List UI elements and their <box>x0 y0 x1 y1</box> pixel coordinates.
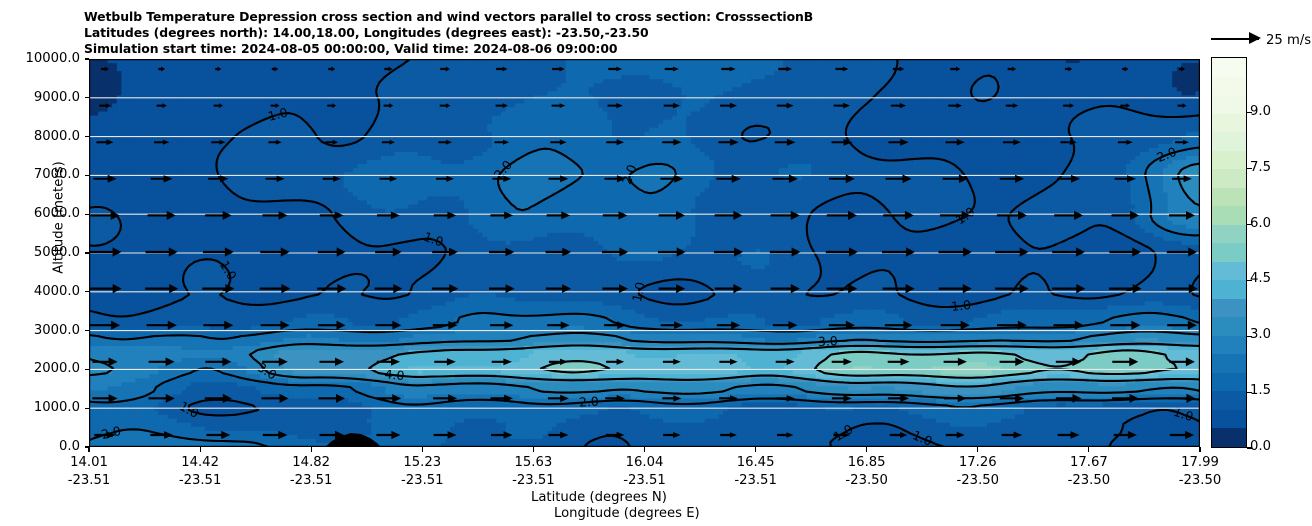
x-tick-label-longitude: -23.50 <box>1044 473 1134 488</box>
colorbar-tick-label: 3.0 <box>1250 327 1271 342</box>
colorbar-tick-label: 4.5 <box>1250 271 1271 286</box>
colorbar-band <box>1212 262 1246 281</box>
x-tick-mark <box>644 447 645 452</box>
colorbar-band <box>1212 132 1246 151</box>
x-tick-mark <box>1088 447 1089 452</box>
colorbar-band <box>1212 410 1246 429</box>
y-tick-label: 5000.0 <box>2 245 80 260</box>
colorbar-tick-mark <box>1247 224 1252 225</box>
colorbar-band <box>1212 428 1246 447</box>
x-tick-mark <box>422 447 423 452</box>
colorbar-band <box>1212 373 1246 392</box>
y-tick-label: 0.0 <box>2 439 80 454</box>
x-tick-label-latitude: 17.67 <box>1044 455 1134 470</box>
cross-section-plot: 1.01.01.01.01.01.01.01.01.01.02.02.02.02… <box>89 59 1200 447</box>
contour-label: 2.0 <box>578 393 599 409</box>
x-tick-label-longitude: -23.51 <box>488 473 578 488</box>
x-tick-label-latitude: 14.82 <box>266 455 356 470</box>
x-tick-label-latitude: 14.01 <box>44 455 134 470</box>
colorbar-tick-label: 9.0 <box>1250 104 1271 119</box>
colorbar-band <box>1212 58 1246 77</box>
chart-title-line3: Simulation start time: 2024-08-05 00:00:… <box>84 41 617 56</box>
x-tick-label-longitude: -23.51 <box>711 473 801 488</box>
y-tick-mark <box>85 97 90 98</box>
x-tick-label-longitude: -23.51 <box>600 473 690 488</box>
y-tick-mark <box>85 58 90 59</box>
y-tick-mark <box>85 330 90 331</box>
y-tick-mark <box>85 175 90 176</box>
colorbar-band <box>1212 391 1246 410</box>
y-tick-mark <box>85 369 90 370</box>
colorbar[interactable] <box>1211 57 1247 448</box>
colorbar-tick-mark <box>1247 447 1252 448</box>
x-tick-mark <box>977 447 978 452</box>
x-tick-label-longitude: -23.50 <box>933 473 1023 488</box>
colorbar-tick-mark <box>1247 168 1252 169</box>
x-tick-label-latitude: 16.04 <box>600 455 690 470</box>
colorbar-band <box>1212 169 1246 188</box>
colorbar-tick-mark <box>1247 280 1252 281</box>
colorbar-tick-mark <box>1247 112 1252 113</box>
colorbar-tick-label: 7.5 <box>1250 160 1271 175</box>
quiver-key-label: 25 m/s <box>1266 33 1311 48</box>
chart-title-line2: Latitudes (degrees north): 14.00,18.00, … <box>84 25 649 40</box>
plot-canvas: 1.01.01.01.01.01.01.01.01.01.02.02.02.02… <box>89 59 1200 447</box>
x-tick-label-latitude: 16.45 <box>711 455 801 470</box>
x-tick-label-latitude: 17.99 <box>1155 455 1245 470</box>
x-tick-label-latitude: 15.63 <box>488 455 578 470</box>
y-tick-label: 8000.0 <box>2 129 80 144</box>
colorbar-band <box>1212 299 1246 318</box>
colorbar-tick-label: 0.0 <box>1250 439 1271 454</box>
x-tick-label-longitude: -23.51 <box>155 473 245 488</box>
colorbar-band <box>1212 225 1246 244</box>
y-tick-mark <box>85 252 90 253</box>
x-tick-label-longitude: -23.51 <box>377 473 467 488</box>
x-tick-label-longitude: -23.51 <box>44 473 134 488</box>
contour-label: 4.0 <box>384 366 405 383</box>
x-tick-label-latitude: 16.85 <box>822 455 912 470</box>
x-tick-mark <box>755 447 756 452</box>
y-tick-label: 10000.0 <box>2 51 80 66</box>
colorbar-tick-label: 1.5 <box>1250 383 1271 398</box>
x-tick-label-latitude: 17.26 <box>933 455 1023 470</box>
y-tick-label: 3000.0 <box>2 323 80 338</box>
y-tick-label: 1000.0 <box>2 400 80 415</box>
y-tick-label: 6000.0 <box>2 206 80 221</box>
x-tick-mark <box>200 447 201 452</box>
colorbar-band <box>1212 336 1246 355</box>
x-tick-mark <box>311 447 312 452</box>
x-tick-label-latitude: 15.23 <box>377 455 467 470</box>
x-axis-label-latitude: Latitude (degrees N) <box>531 490 667 505</box>
colorbar-band <box>1212 77 1246 96</box>
y-tick-mark <box>85 291 90 292</box>
x-tick-label-longitude: -23.51 <box>266 473 356 488</box>
y-tick-mark <box>85 408 90 409</box>
x-tick-label-longitude: -23.50 <box>822 473 912 488</box>
contour-label: 3.0 <box>817 333 838 349</box>
colorbar-band <box>1212 151 1246 170</box>
y-tick-label: 7000.0 <box>2 167 80 182</box>
y-tick-label: 9000.0 <box>2 90 80 105</box>
contour-label: 1.0 <box>950 297 971 314</box>
colorbar-tick-mark <box>1247 392 1252 393</box>
colorbar-band <box>1212 317 1246 336</box>
y-tick-mark <box>85 136 90 137</box>
y-tick-mark <box>85 214 90 215</box>
colorbar-tick-label: 6.0 <box>1250 216 1271 231</box>
x-tick-label-longitude: -23.50 <box>1155 473 1245 488</box>
colorbar-band <box>1212 95 1246 114</box>
quiver-key-arrow-head-icon <box>1249 32 1261 44</box>
colorbar-band <box>1212 188 1246 207</box>
x-tick-mark <box>1199 447 1200 452</box>
colorbar-band <box>1212 114 1246 133</box>
chart-title-line1: Wetbulb Temperature Depression cross sec… <box>84 9 813 24</box>
colorbar-band <box>1212 206 1246 225</box>
x-tick-label-latitude: 14.42 <box>155 455 245 470</box>
colorbar-band <box>1212 354 1246 373</box>
x-tick-mark <box>533 447 534 452</box>
x-tick-mark <box>866 447 867 452</box>
x-axis-label-longitude: Longitude (degrees E) <box>554 506 700 521</box>
colorbar-band <box>1212 280 1246 299</box>
chart-page: Wetbulb Temperature Depression cross sec… <box>0 0 1312 526</box>
x-tick-mark <box>88 447 89 452</box>
colorbar-tick-mark <box>1247 336 1252 337</box>
y-tick-label: 2000.0 <box>2 361 80 376</box>
colorbar-band <box>1212 243 1246 262</box>
y-tick-label: 4000.0 <box>2 284 80 299</box>
